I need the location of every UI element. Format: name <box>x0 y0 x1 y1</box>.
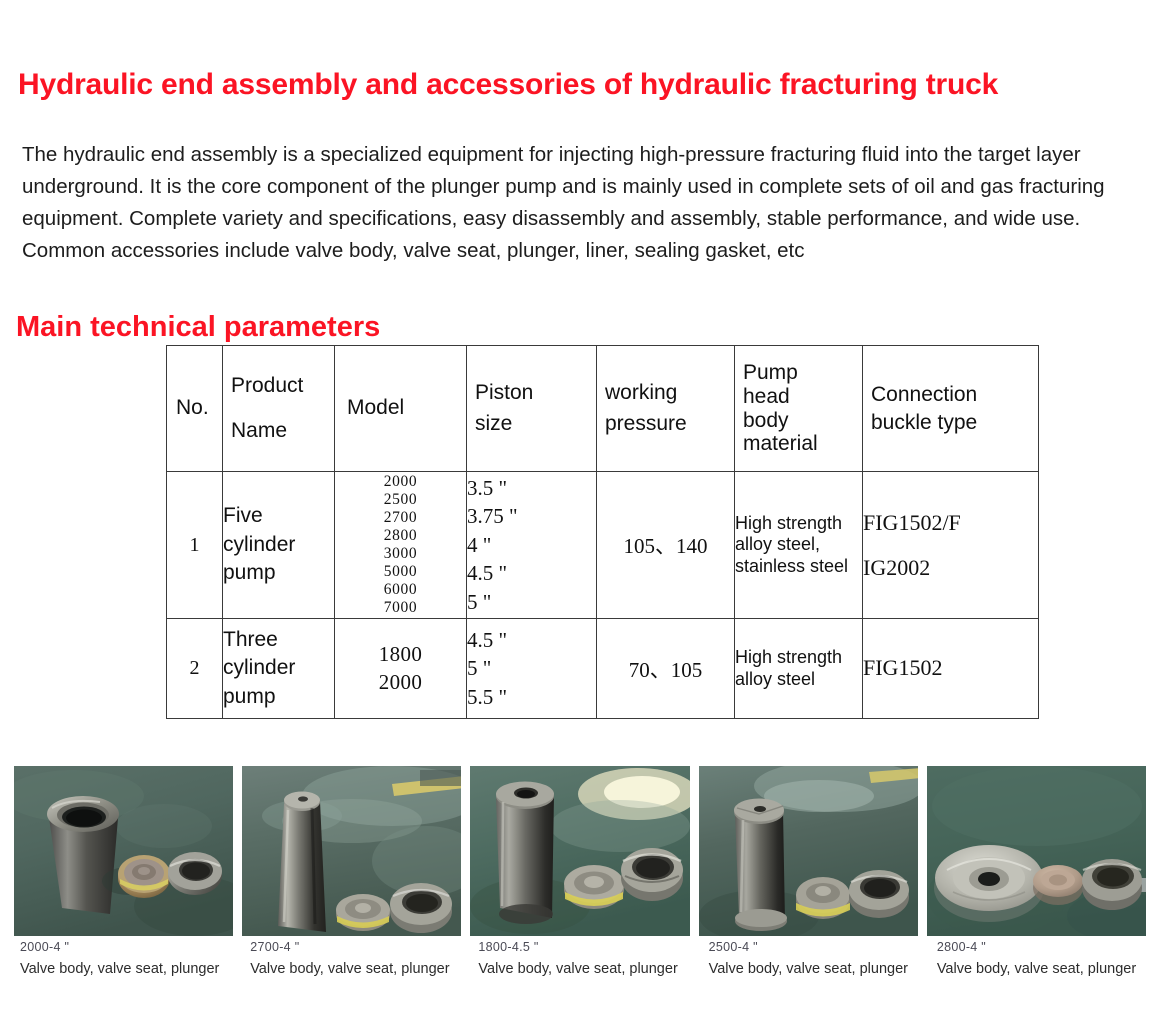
caption-desc: Valve body, valve seat, plunger <box>699 961 918 977</box>
header-label-working: working <box>605 378 726 408</box>
photo-4-graphic <box>699 766 918 936</box>
header-label-name: Name <box>231 409 326 453</box>
cell-product-name: Three cylinder pump <box>223 619 335 719</box>
caption-desc: Valve body, valve seat, plunger <box>470 961 689 977</box>
cell-working-pressure: 105、140 <box>597 472 735 619</box>
product-photo-2[interactable] <box>242 766 461 936</box>
header-label-model: Model <box>335 393 466 423</box>
table-row: 1 Five cylinder pump 2000250027002800300… <box>167 472 1039 619</box>
header-cell-working-pressure: working pressure <box>597 346 735 472</box>
cell-no: 1 <box>167 472 223 619</box>
header-label-head: head <box>743 385 854 409</box>
cell-material: High strength alloy steel, stainless ste… <box>735 472 863 619</box>
intro-paragraph: The hydraulic end assembly is a speciali… <box>22 139 1140 267</box>
caption-desc: Valve body, valve seat, plunger <box>927 961 1146 977</box>
cell-product-name: Five cylinder pump <box>223 472 335 619</box>
caption-code: 2800-4 " <box>927 940 1146 954</box>
header-label-pressure: pressure <box>605 409 726 439</box>
header-label-pump: Pump <box>743 361 854 385</box>
caption-5: 2800-4 " Valve body, valve seat, plunger <box>927 940 1146 1002</box>
header-cell-piston-size: Piston size <box>467 346 597 472</box>
header-label-no: No. <box>167 393 222 423</box>
photo-5-graphic <box>927 766 1146 936</box>
header-label-body: body <box>743 409 854 433</box>
cell-no: 2 <box>167 619 223 719</box>
header-cell-model: Model <box>335 346 467 472</box>
page-title: Hydraulic end assembly and accessories o… <box>18 68 998 102</box>
header-label-piston: Piston <box>475 378 588 408</box>
header-label-product: Product <box>231 364 326 408</box>
caption-desc: Valve body, valve seat, plunger <box>14 961 233 977</box>
product-photo-5[interactable] <box>927 766 1146 936</box>
cell-model: 18002000 <box>335 619 467 719</box>
section-title-main-technical-parameters: Main technical parameters <box>16 311 380 344</box>
product-page: Hydraulic end assembly and accessories o… <box>0 0 1160 1020</box>
cell-piston-size: 3.5 "3.75 "4 "4.5 "5 " <box>467 472 597 619</box>
header-label-buckle-type: buckle type <box>871 409 1030 436</box>
header-label-material: material <box>743 432 854 456</box>
header-cell-product-name: Product Name <box>223 346 335 472</box>
product-photo-1[interactable] <box>14 766 233 936</box>
product-photo-4[interactable] <box>699 766 918 936</box>
caption-code: 1800-4.5 " <box>470 940 689 954</box>
product-photo-3[interactable] <box>470 766 689 936</box>
caption-1: 2000-4 " Valve body, valve seat, plunger <box>14 940 233 1002</box>
caption-desc: Valve body, valve seat, plunger <box>242 961 461 977</box>
caption-code: 2000-4 " <box>14 940 233 954</box>
cell-model: 20002500270028003000500060007000 <box>335 472 467 619</box>
cell-connection-buckle: FIG1502/F IG2002 <box>863 472 1039 619</box>
cell-working-pressure: 70、105 <box>597 619 735 719</box>
cell-material: High strength alloy steel <box>735 619 863 719</box>
caption-4: 2500-4 " Valve body, valve seat, plunger <box>699 940 918 1002</box>
caption-2: 2700-4 " Valve body, valve seat, plunger <box>242 940 461 1002</box>
header-cell-no: No. <box>167 346 223 472</box>
product-photo-gallery <box>14 766 1146 936</box>
photo-1-graphic <box>14 766 233 936</box>
cell-connection-buckle: FIG1502 <box>863 619 1039 719</box>
photo-2-graphic <box>242 766 461 936</box>
caption-code: 2700-4 " <box>242 940 461 954</box>
table-header-row: No. Product Name Model Piston size <box>167 346 1039 472</box>
header-cell-connection-buckle-type: Connection buckle type <box>863 346 1039 472</box>
header-cell-pump-head-body-material: Pump head body material <box>735 346 863 472</box>
connection-line-1: FIG1502/F <box>863 500 1038 545</box>
header-label-size: size <box>475 409 588 439</box>
technical-parameters-table: No. Product Name Model Piston size <box>166 345 1039 719</box>
header-label-connection: Connection <box>871 381 1030 408</box>
connection-line-2: IG2002 <box>863 545 1038 590</box>
caption-3: 1800-4.5 " Valve body, valve seat, plung… <box>470 940 689 1002</box>
table-row: 2 Three cylinder pump 18002000 4.5 "5 "5… <box>167 619 1039 719</box>
photo-3-graphic <box>470 766 689 936</box>
cell-piston-size: 4.5 "5 "5.5 " <box>467 619 597 719</box>
photo-captions: 2000-4 " Valve body, valve seat, plunger… <box>14 940 1146 1002</box>
caption-code: 2500-4 " <box>699 940 918 954</box>
